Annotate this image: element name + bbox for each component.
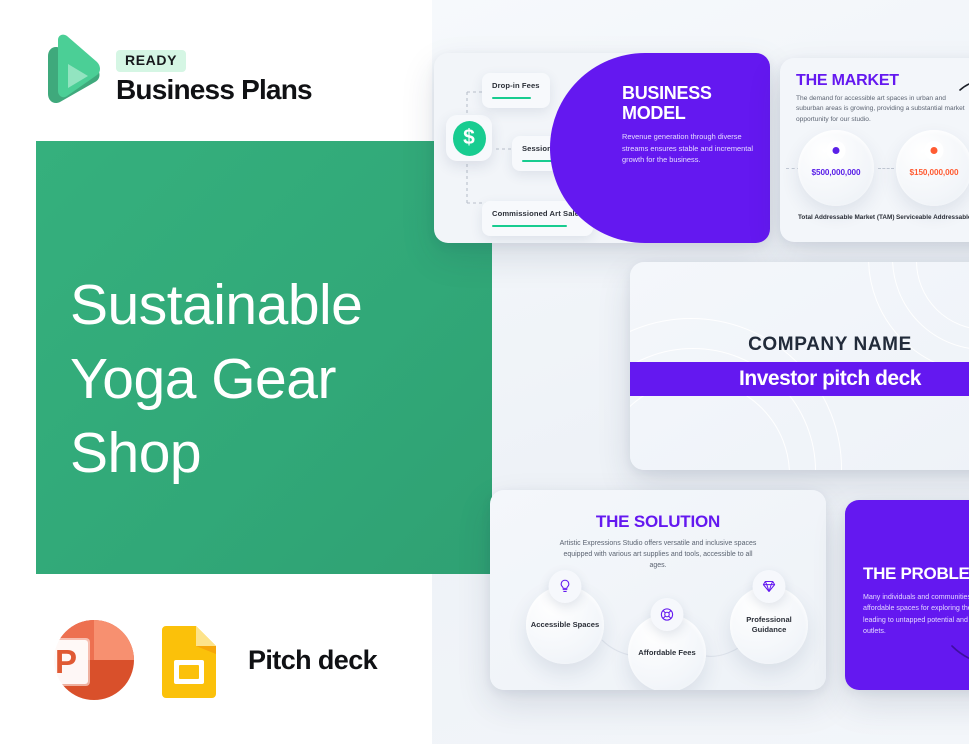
- decorative-swoosh: [950, 640, 969, 674]
- market-description: The demand for accessible art spaces in …: [796, 94, 969, 125]
- metric-caption: Serviceable Addressable Market (SAM): [896, 213, 969, 222]
- cover-company-name: COMPANY NAME: [630, 334, 969, 356]
- solution-node[interactable]: Professional Guidance: [730, 586, 808, 664]
- lightbulb-icon: [549, 570, 582, 603]
- google-slides-icon: [158, 622, 220, 698]
- ready-badge: READY: [116, 50, 186, 72]
- metric-value: $150,000,000: [896, 168, 969, 177]
- curved-arrow-icon: [958, 76, 969, 118]
- solution-node[interactable]: Accessible Spaces: [526, 586, 604, 664]
- solution-node-label: Professional Guidance: [730, 615, 808, 636]
- brand-lockup: READY Business Plans: [40, 34, 312, 116]
- cover-subtitle-band: Investor pitch deck: [630, 362, 969, 396]
- page-title: Sustainable Yoga Gear Shop: [70, 268, 430, 490]
- metric-dot-icon: [931, 147, 938, 154]
- format-label: Pitch deck: [248, 645, 377, 676]
- brand-text: READY Business Plans: [116, 46, 312, 104]
- solution-node-label: Accessible Spaces: [531, 620, 599, 631]
- revenue-stream-label: Drop-in Fees: [492, 81, 540, 90]
- slide-cover[interactable]: COMPANY NAME Investor pitch deck: [630, 262, 969, 470]
- diamond-icon: [753, 570, 786, 603]
- solution-node[interactable]: Affordable Fees: [628, 614, 706, 690]
- play-logo-icon: [40, 34, 102, 116]
- slide-problem[interactable]: THE PROBLEM Many individuals and communi…: [845, 500, 969, 690]
- dollar-sign-icon: $: [446, 115, 492, 161]
- slide-solution[interactable]: THE SOLUTION Artistic Expressions Studio…: [490, 490, 826, 690]
- business-model-title: BUSINESS MODEL: [622, 83, 758, 123]
- cover-subtitle: Investor pitch deck: [739, 367, 921, 391]
- slide-business-model[interactable]: $ Drop-in Fees Session Workshops Commiss…: [434, 53, 770, 243]
- metric-dot-icon: [833, 147, 840, 154]
- powerpoint-icon: P: [42, 616, 134, 704]
- metric-value: $500,000,000: [798, 168, 874, 177]
- lifebuoy-icon: [651, 598, 684, 631]
- market-metric: $500,000,000 Total Addressable Market (T…: [798, 130, 894, 222]
- market-metric: $150,000,000 Serviceable Addressable Mar…: [896, 130, 969, 222]
- problem-title: THE PROBLEM: [863, 564, 969, 584]
- market-title: THE MARKET: [796, 72, 899, 90]
- business-model-description: Revenue generation through diverse strea…: [622, 131, 758, 166]
- poster-canvas: READY Business Plans Sustainable Yoga Ge…: [0, 0, 969, 744]
- business-model-panel: BUSINESS MODEL Revenue generation throug…: [550, 53, 770, 243]
- solution-node-label: Affordable Fees: [638, 648, 695, 659]
- problem-description: Many individuals and communities lack ac…: [863, 592, 969, 638]
- format-list: P Pitch deck: [42, 616, 377, 704]
- brand-name: Business Plans: [116, 75, 312, 104]
- metric-caption: Total Addressable Market (TAM): [798, 213, 894, 222]
- slide-market[interactable]: THE MARKET The demand for accessible art…: [780, 58, 969, 242]
- revenue-stream-item[interactable]: Drop-in Fees: [482, 73, 550, 108]
- svg-text:P: P: [55, 643, 77, 680]
- revenue-stream-label: Commissioned Art Sales: [492, 209, 583, 218]
